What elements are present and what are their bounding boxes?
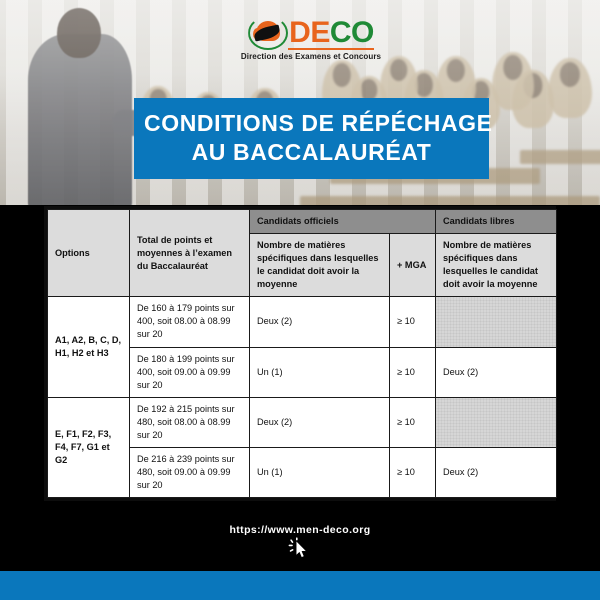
bottom-accent-bar — [0, 571, 600, 600]
logo-wordmark: D E C O — [289, 18, 374, 48]
column-header-libres-matieres: Nombre de matières spécifiques dans lesq… — [436, 234, 557, 297]
table-row: E, F1, F2, F3, F4, F7, G1 et G2 De 192 à… — [48, 397, 557, 447]
logo-letter-c: C — [330, 18, 351, 48]
title-line-1: CONDITIONS DE RÉPÉCHAGE — [144, 109, 479, 138]
table-row: A1, A2, B, C, D, H1, H2 et H3 De 160 à 1… — [48, 297, 557, 347]
mga-cell: ≥ 10 — [390, 447, 436, 497]
poster-canvas: D E C O Direction des Examens et Concour… — [0, 0, 600, 600]
table-head: Options Total de points et moyennes à l’… — [48, 210, 557, 297]
options-cell-group-2: E, F1, F2, F3, F4, F7, G1 et G2 — [48, 397, 130, 497]
total-points-cell: De 180 à 199 points sur 400, soit 09.00 … — [130, 347, 250, 397]
officiels-matieres-cell: Un (1) — [250, 447, 390, 497]
officiels-matieres-cell: Deux (2) — [250, 297, 390, 347]
title-banner: CONDITIONS DE RÉPÉCHAGE AU BACCALAURÉAT — [134, 98, 489, 179]
conditions-table-wrapper: Options Total de points et moyennes à l’… — [44, 206, 556, 501]
mga-cell: ≥ 10 — [390, 297, 436, 347]
logo-letter-o: O — [351, 18, 374, 48]
libres-matieres-cell-empty — [436, 297, 557, 347]
officiels-matieres-cell: Deux (2) — [250, 397, 390, 447]
deco-logo: D E C O Direction des Examens et Concour… — [236, 16, 386, 64]
total-points-cell: De 160 à 179 points sur 400, soit 08.00 … — [130, 297, 250, 347]
group-header-candidats-libres: Candidats libres — [436, 210, 557, 234]
logo-underline — [288, 48, 374, 50]
logo-subtitle: Direction des Examens et Concours — [241, 52, 381, 61]
logo-letter-e: E — [310, 18, 330, 48]
conditions-table: Options Total de points et moyennes à l’… — [47, 209, 557, 498]
officiels-matieres-cell: Un (1) — [250, 347, 390, 397]
elephant-wreath-icon — [248, 16, 288, 50]
column-header-mga: + MGA — [390, 234, 436, 297]
column-header-options: Options — [48, 210, 130, 297]
title-line-2: AU BACCALAURÉAT — [144, 138, 479, 167]
table-group-header-row: Options Total de points et moyennes à l’… — [48, 210, 557, 234]
mga-cell: ≥ 10 — [390, 347, 436, 397]
total-points-cell: De 216 à 239 points sur 480, soit 09.00 … — [130, 447, 250, 497]
options-cell-group-1: A1, A2, B, C, D, H1, H2 et H3 — [48, 297, 130, 397]
libres-matieres-cell-empty — [436, 397, 557, 447]
total-points-cell: De 192 à 215 points sur 480, soit 08.00 … — [130, 397, 250, 447]
website-url[interactable]: https://www.men-deco.org — [0, 524, 600, 536]
libres-matieres-cell: Deux (2) — [436, 347, 557, 397]
mouse-pointer-click-icon — [288, 537, 314, 563]
table-body: A1, A2, B, C, D, H1, H2 et H3 De 160 à 1… — [48, 297, 557, 498]
column-header-officiels-matieres: Nombre de matières spécifiques dans lesq… — [250, 234, 390, 297]
column-header-total-points: Total de points et moyennes à l’examen d… — [130, 210, 250, 297]
mga-cell: ≥ 10 — [390, 397, 436, 447]
libres-matieres-cell: Deux (2) — [436, 447, 557, 497]
logo-letter-d: D — [289, 18, 310, 48]
logo-mark-row: D E C O — [248, 16, 374, 50]
group-header-candidats-officiels: Candidats officiels — [250, 210, 436, 234]
